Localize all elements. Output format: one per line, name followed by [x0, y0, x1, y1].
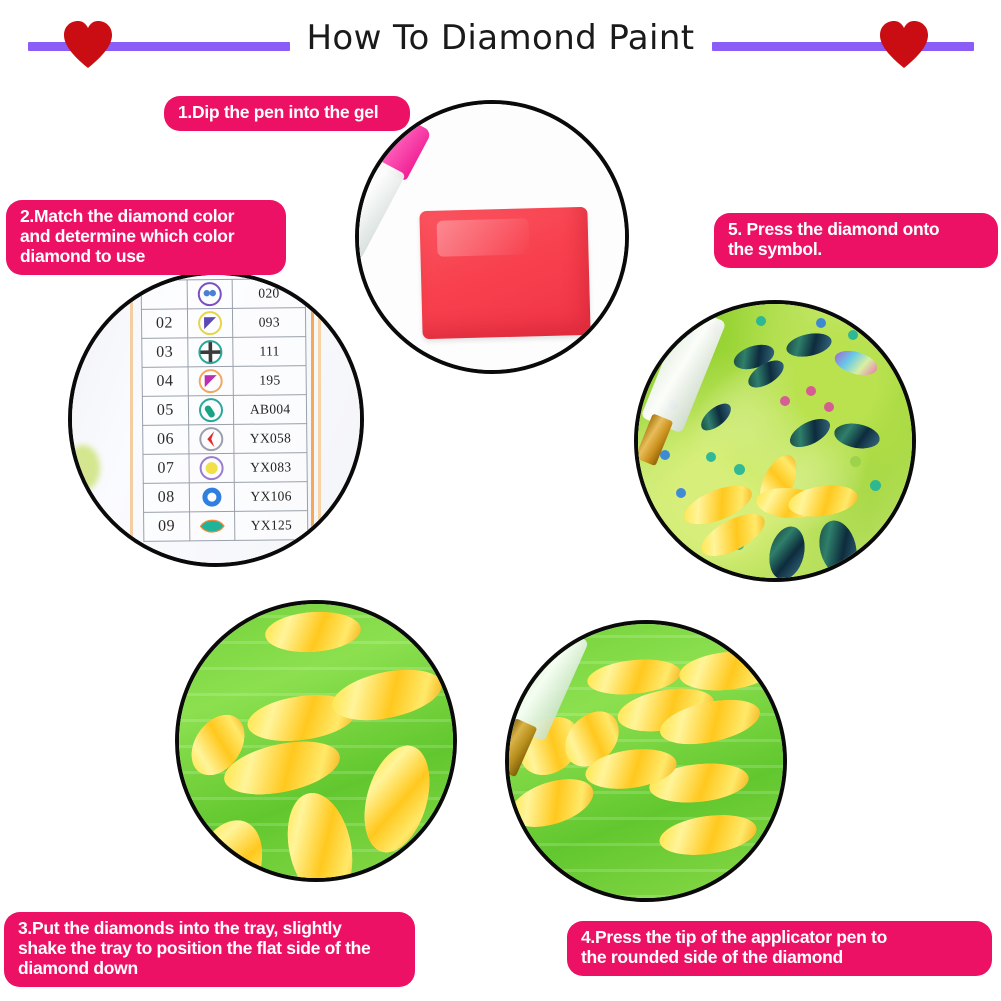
photo-diamond-onto-symbol — [634, 300, 916, 582]
canvas-pattern-dot — [676, 488, 686, 498]
step-3-label: 3.Put the diamonds into the tray, slight… — [4, 912, 415, 987]
canvas-pattern-dot — [756, 316, 766, 326]
chart-row-number: 09 — [144, 512, 190, 541]
color-chart-row: 07YX083 — [143, 453, 307, 484]
chart-row-number: 02 — [141, 309, 187, 338]
leaf-symbol — [189, 511, 235, 540]
chart-row-number: 07 — [143, 454, 189, 483]
plus-cross-symbol — [187, 337, 233, 366]
chart-row-number: 06 — [143, 425, 189, 454]
chart-row-number: 03 — [142, 338, 188, 367]
color-chart-row: 09YX125 — [144, 511, 308, 542]
chart-row-code: 111 — [233, 337, 306, 367]
photo-diamonds-in-tray — [175, 600, 457, 882]
chart-row-code: YX058 — [234, 424, 307, 454]
color-chart-row: 08YX106 — [143, 482, 307, 513]
chart-row-code: YX083 — [234, 453, 307, 483]
step-4-label: 4.Press the tip of the applicator pen to… — [567, 921, 992, 976]
canvas-pattern-dot — [824, 402, 834, 412]
chart-edge-rail — [311, 275, 314, 563]
step-2-label: 2.Match the diamond color and determine … — [6, 200, 286, 275]
chart-edge-rail — [318, 275, 321, 563]
chart-edge-rail — [130, 275, 133, 563]
step-5-label: 5. Press the diamond onto the symbol. — [714, 213, 998, 268]
chart-row-code: 195 — [233, 366, 306, 396]
chart-row-code: AB004 — [234, 395, 307, 425]
filled-dot-symbol — [189, 453, 235, 482]
canvas-pattern-dot — [806, 386, 816, 396]
page-title: How To Diamond Paint — [0, 18, 1001, 58]
canvas-pattern-dot — [706, 452, 716, 462]
canvas-pattern-dot — [870, 480, 881, 491]
left-chevron-symbol — [188, 424, 234, 453]
slash-capsule-symbol — [188, 395, 234, 424]
chart-row-code: YX106 — [235, 482, 308, 512]
chart-row-number — [141, 280, 187, 309]
chart-row-number: 08 — [143, 483, 189, 512]
triangle-corner-symbol — [188, 366, 234, 395]
photo-pen-into-gel — [355, 100, 629, 374]
chart-row-number: 05 — [142, 396, 188, 425]
canvas-pattern-dot — [734, 464, 745, 475]
canvas-pattern-dot — [848, 330, 858, 340]
chart-row-code: YX125 — [235, 511, 308, 541]
color-chart-row: 02093 — [141, 308, 305, 339]
canvas-pattern-dot — [850, 456, 861, 467]
color-chart-row: 04195 — [142, 366, 306, 397]
pen-tip — [635, 413, 673, 466]
double-dot-circle-symbol — [187, 279, 233, 308]
chart-row-number: 04 — [142, 367, 188, 396]
step-1-label: 1.Dip the pen into the gel — [164, 96, 410, 131]
chart-row-code: 093 — [233, 308, 306, 338]
canvas-pattern-dot — [780, 396, 790, 406]
triangle-corner-symbol — [187, 308, 233, 337]
canvas-print-blob — [90, 537, 112, 555]
color-chart-row: 020 — [141, 279, 305, 310]
color-chart-row: 05AB004 — [142, 395, 306, 426]
photo-color-chart: 02002093031110419505AB00406YX05807YX0830… — [68, 271, 364, 567]
color-chart-row: 06YX058 — [143, 424, 307, 455]
chart-row-code: 020 — [233, 279, 306, 309]
gel-pad — [419, 207, 590, 339]
ring-symbol — [189, 482, 235, 511]
canvas-pattern-dot — [816, 318, 826, 328]
color-chart-table: 02002093031110419505AB00406YX05807YX0830… — [141, 278, 309, 542]
infographic-page: How To Diamond Paint 0200209303111041950… — [0, 0, 1001, 1001]
photo-pen-picking-diamond — [505, 620, 787, 902]
color-chart-row: 03111 — [142, 337, 306, 368]
header: How To Diamond Paint — [0, 0, 1001, 86]
